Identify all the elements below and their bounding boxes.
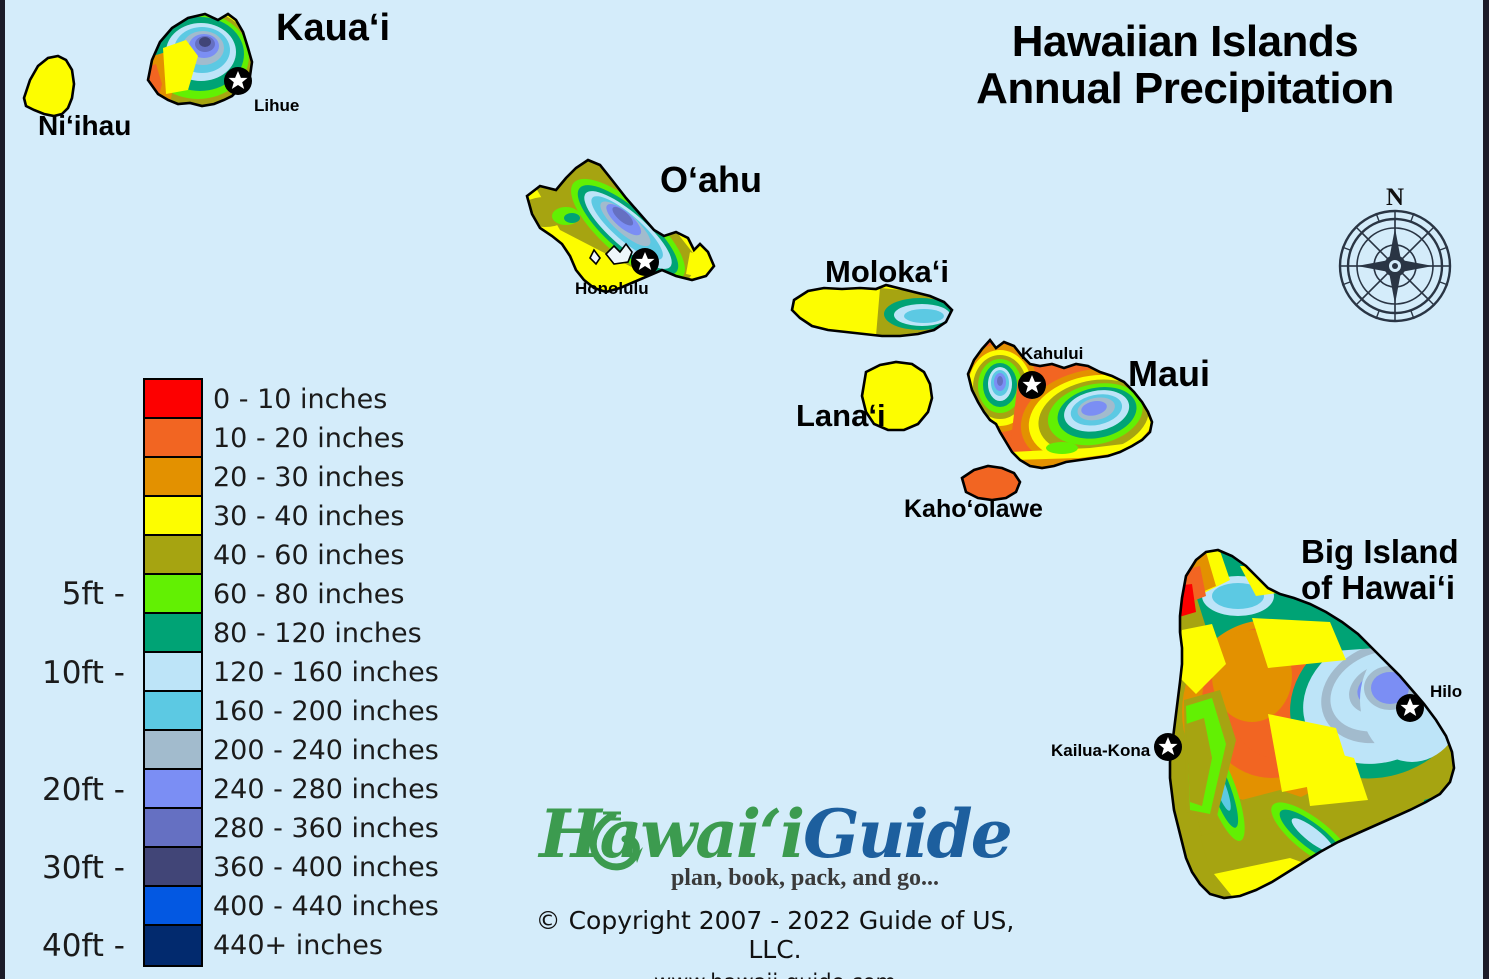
star-marker-hilo [1396, 694, 1424, 722]
legend-label-3: 30 - 40 inches [213, 501, 404, 532]
website-url[interactable]: www.hawaii-guide.com [525, 970, 1025, 979]
feet-marker-5ft: 5ft - [5, 576, 125, 612]
city-label-kailua-kona: Kailua-Kona [1051, 741, 1150, 761]
legend-label-4: 40 - 60 inches [213, 540, 404, 571]
legend-swatch-2: 20 - 30 inches [145, 458, 201, 497]
feet-marker-20ft: 20ft - [5, 772, 125, 808]
legend-label-7: 120 - 160 inches [213, 657, 439, 688]
copyright-text: © Copyright 2007 - 2022 Guide of US, LLC… [525, 906, 1025, 964]
island-label-lanai: Lanaʻi [796, 399, 886, 432]
legend-swatch-6: 80 - 120 inches [145, 614, 201, 653]
legend-label-11: 280 - 360 inches [213, 813, 439, 844]
legend-swatch-7: 120 - 160 inches [145, 653, 201, 692]
island-label-oahu: Oʻahu [660, 161, 762, 200]
feet-marker-40ft: 40ft - [5, 928, 125, 964]
city-label-kahului: Kahului [1021, 344, 1083, 364]
city-label-hilo: Hilo [1430, 682, 1462, 702]
legend-label-8: 160 - 200 inches [213, 696, 439, 727]
precipitation-map: Hawaiian Islands Annual Precipitation N [0, 0, 1489, 979]
star-marker-lihue [224, 67, 252, 95]
legend-swatch-9: 200 - 240 inches [145, 731, 201, 770]
legend-swatch-8: 160 - 200 inches [145, 692, 201, 731]
star-marker-kailua-kona [1154, 733, 1182, 761]
legend-swatch-10: 240 - 280 inches [145, 770, 201, 809]
precipitation-legend: 0 - 10 inches10 - 20 inches20 - 30 inche… [143, 378, 203, 967]
island-kauai [138, 5, 265, 115]
legend-label-6: 80 - 120 inches [213, 618, 422, 649]
fishhook-icon [525, 795, 1025, 881]
island-label-kahoolawe: Kahoʻolawe [904, 496, 1043, 523]
city-label-honolulu: Honolulu [575, 279, 649, 299]
star-marker-honolulu [631, 248, 659, 276]
legend-swatch-4: 40 - 60 inches [145, 536, 201, 575]
island-label-maui: Maui [1128, 355, 1210, 394]
legend-label-1: 10 - 20 inches [213, 423, 404, 454]
island-niihau [24, 56, 74, 116]
legend-swatch-3: 30 - 40 inches [145, 497, 201, 536]
city-label-lihue: Lihue [254, 96, 299, 116]
feet-marker-30ft: 30ft - [5, 850, 125, 886]
feet-marker-10ft: 10ft - [5, 655, 125, 691]
legend-label-14: 440+ inches [213, 930, 383, 961]
legend-label-10: 240 - 280 inches [213, 774, 439, 805]
island-label-bigisland: Big Island of Hawaiʻi [1301, 534, 1459, 605]
legend-label-2: 20 - 30 inches [213, 462, 404, 493]
legend-label-0: 0 - 10 inches [213, 384, 387, 415]
legend-swatch-11: 280 - 360 inches [145, 809, 201, 848]
island-label-niihau: Niʻihau [38, 111, 131, 141]
brand-wordmark: HawaiʻiGuide [525, 795, 1025, 877]
island-label-bigisland-line2: of Hawaiʻi [1301, 570, 1459, 606]
legend-label-12: 360 - 400 inches [213, 852, 439, 883]
island-label-molokai: Molokaʻi [825, 255, 949, 288]
legend-label-5: 60 - 80 inches [213, 579, 404, 610]
island-molokai [788, 282, 960, 342]
island-label-bigisland-line1: Big Island [1301, 534, 1459, 570]
legend-swatch-12: 360 - 400 inches [145, 848, 201, 887]
legend-label-9: 200 - 240 inches [213, 735, 439, 766]
legend-swatch-1: 10 - 20 inches [145, 419, 201, 458]
brand-block: HawaiʻiGuide plan, book, pack, and go...… [525, 795, 1025, 979]
star-marker-kahului [1018, 371, 1046, 399]
legend-label-13: 400 - 440 inches [213, 891, 439, 922]
legend-swatch-13: 400 - 440 inches [145, 887, 201, 926]
island-label-kauai: Kauaʻi [276, 8, 390, 49]
legend-swatch-14: 440+ inches [145, 926, 201, 965]
legend-swatch-5: 60 - 80 inches [145, 575, 201, 614]
legend-swatch-0: 0 - 10 inches [145, 380, 201, 419]
